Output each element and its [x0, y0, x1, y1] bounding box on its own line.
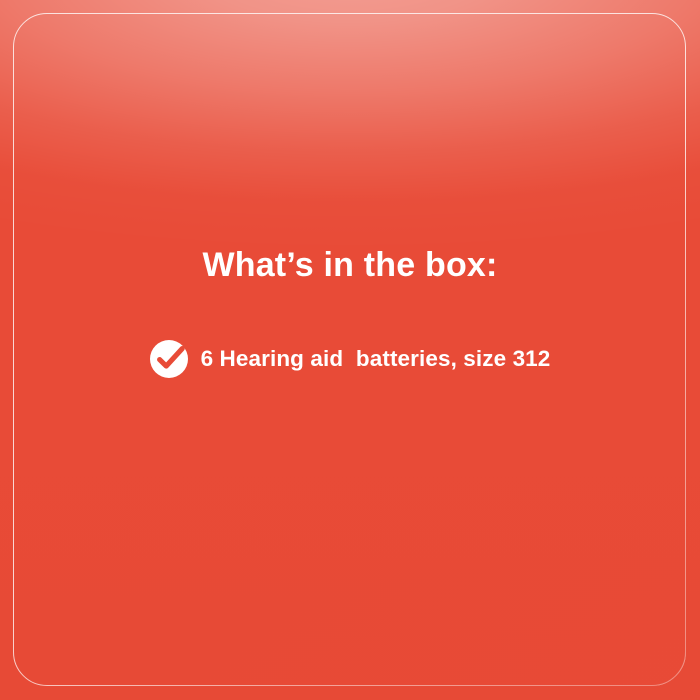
list-item-label: 6 Hearing aid batteries, size 312 — [201, 345, 551, 373]
page-title: What’s in the box: — [0, 245, 700, 285]
box-contents-list: 6 Hearing aid batteries, size 312 — [0, 340, 700, 378]
check-circle-icon-svg — [150, 340, 188, 378]
card-border-fade-overlay — [13, 13, 686, 686]
check-circle-icon — [150, 340, 188, 378]
list-item: 6 Hearing aid batteries, size 312 — [150, 340, 551, 378]
bottom-shade-overlay — [0, 0, 700, 700]
card-content: What’s in the box: — [0, 0, 700, 700]
top-light-glow — [0, 0, 700, 700]
product-info-card: What’s in the box: — [0, 0, 700, 700]
card-border-frame — [13, 13, 686, 686]
